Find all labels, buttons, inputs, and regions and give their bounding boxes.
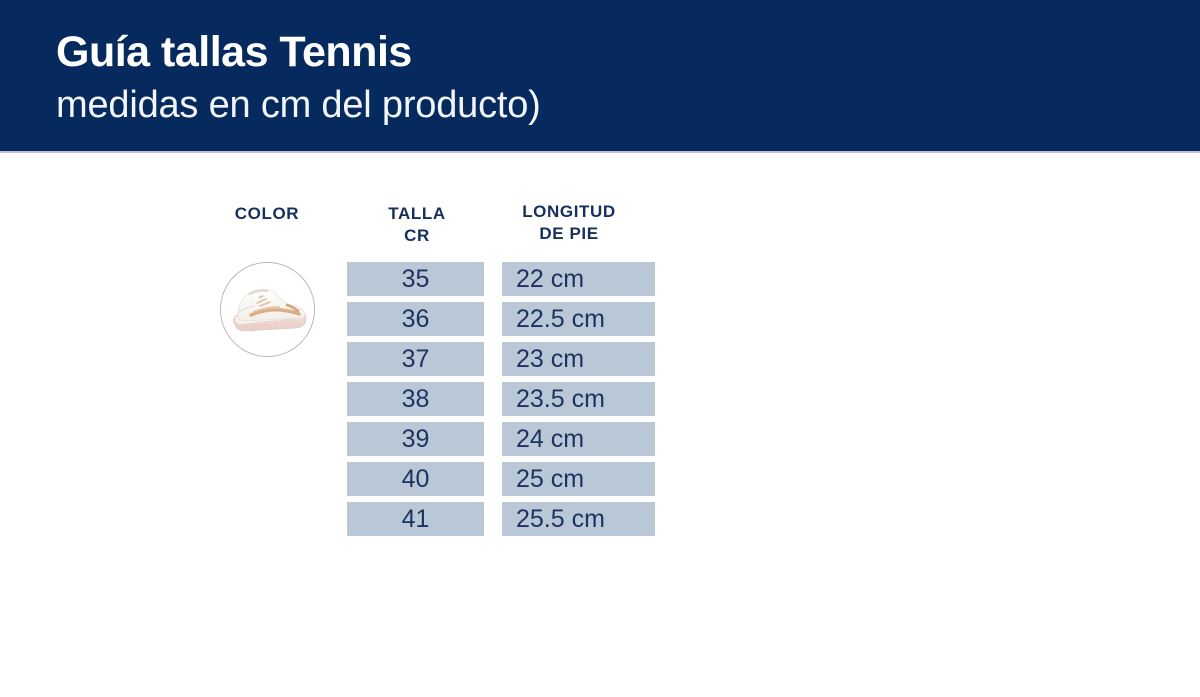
table-row: 4025 cm bbox=[0, 462, 1200, 496]
column-header-longitud-line2: DE PIE bbox=[539, 224, 598, 243]
table-row: 3723 cm bbox=[0, 342, 1200, 376]
cell-longitud-de-pie: 25.5 cm bbox=[502, 502, 655, 536]
cell-longitud-de-pie: 22 cm bbox=[502, 262, 655, 296]
cell-talla-cr: 40 bbox=[347, 462, 484, 496]
table-row: 3522 cm bbox=[0, 262, 1200, 296]
column-header-talla-cr: TALLA CR bbox=[355, 203, 479, 247]
cell-talla-cr: 41 bbox=[347, 502, 484, 536]
table-row: 4125.5 cm bbox=[0, 502, 1200, 536]
table-row: 3622.5 cm bbox=[0, 302, 1200, 336]
cell-talla-cr: 37 bbox=[347, 342, 484, 376]
page-title: Guía tallas Tennis bbox=[56, 30, 412, 75]
column-header-talla-cr-line2: CR bbox=[404, 226, 430, 245]
cell-longitud-de-pie: 23 cm bbox=[502, 342, 655, 376]
cell-longitud-de-pie: 22.5 cm bbox=[502, 302, 655, 336]
cell-talla-cr: 35 bbox=[347, 262, 484, 296]
column-header-longitud-line1: LONGITUD bbox=[522, 202, 616, 221]
cell-longitud-de-pie: 23.5 cm bbox=[502, 382, 655, 416]
size-guide-page: Guía tallas Tennis medidas en cm del pro… bbox=[0, 0, 1200, 697]
table-row: 3924 cm bbox=[0, 422, 1200, 456]
column-header-color: COLOR bbox=[207, 203, 327, 225]
cell-talla-cr: 36 bbox=[347, 302, 484, 336]
table-row: 3823.5 cm bbox=[0, 382, 1200, 416]
column-header-longitud-de-pie: LONGITUD DE PIE bbox=[500, 201, 638, 245]
header-banner: Guía tallas Tennis medidas en cm del pro… bbox=[0, 0, 1200, 153]
cell-longitud-de-pie: 24 cm bbox=[502, 422, 655, 456]
cell-talla-cr: 39 bbox=[347, 422, 484, 456]
cell-longitud-de-pie: 25 cm bbox=[502, 462, 655, 496]
cell-talla-cr: 38 bbox=[347, 382, 484, 416]
page-subtitle: medidas en cm del producto) bbox=[56, 86, 541, 126]
column-header-talla-cr-line1: TALLA bbox=[388, 204, 445, 223]
size-table: COLOR TALLA CR LONGITUD DE PIE bbox=[0, 153, 1200, 697]
